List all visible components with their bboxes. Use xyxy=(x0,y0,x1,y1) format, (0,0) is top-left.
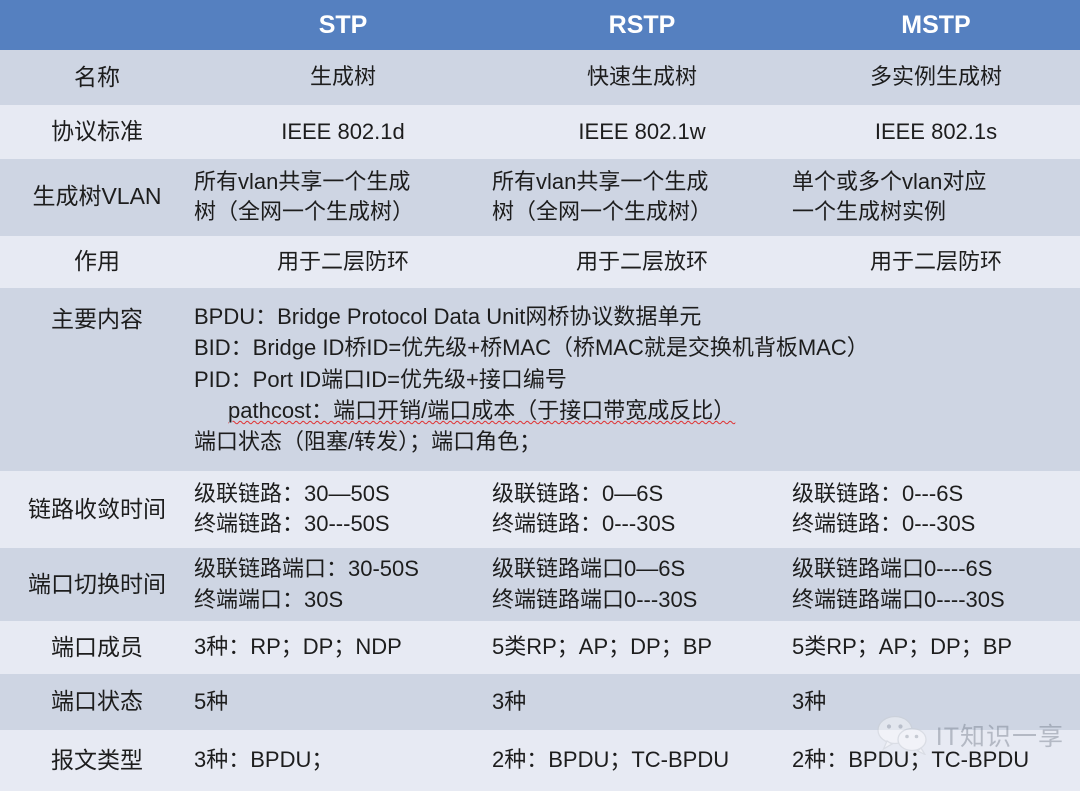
cell-line: 级联链路端口0----6S xyxy=(792,554,1080,584)
row-label-port-members: 端口成员 xyxy=(0,621,194,674)
header-cell-blank xyxy=(0,0,194,50)
main-content-line-pid: PID：Port ID端口ID=优先级+接口编号 xyxy=(194,364,1080,395)
main-content-line-portstate: 端口状态（阻塞/转发）；端口角色； xyxy=(194,426,1080,457)
cell-port-states-rstp: 3种 xyxy=(492,674,792,730)
header-cell-stp: STP xyxy=(194,0,492,50)
row-label-function: 作用 xyxy=(0,236,194,288)
cell-line: 终端端口：30S xyxy=(194,585,492,615)
cell-line: 树（全网一个生成树） xyxy=(492,197,792,227)
cell-port-switch-stp: 级联链路端口：30-50S 终端端口：30S xyxy=(194,548,492,621)
cell-vlan-stp: 所有vlan共享一个生成 树（全网一个生成树） xyxy=(194,159,492,236)
table-row: 作用 用于二层防环 用于二层放环 用于二层防环 xyxy=(0,236,1080,288)
row-label-main-content: 主要内容 xyxy=(0,288,194,471)
row-label-standard: 协议标准 xyxy=(0,105,194,159)
cell-line: 单个或多个vlan对应 xyxy=(792,167,1080,197)
cell-port-switch-mstp: 级联链路端口0----6S 终端链路端口0----30S xyxy=(792,548,1080,621)
cell-line: 树（全网一个生成树） xyxy=(194,197,492,227)
table-row: 链路收敛时间 级联链路：30—50S 终端链路：30---50S 级联链路：0—… xyxy=(0,471,1080,548)
cell-function-mstp: 用于二层防环 xyxy=(792,236,1080,288)
table-row: 端口成员 3种：RP；DP；NDP 5类RP；AP；DP；BP 5类RP；AP；… xyxy=(0,621,1080,674)
cell-convergence-mstp: 级联链路：0---6S 终端链路：0---30S xyxy=(792,471,1080,548)
header-cell-mstp: MSTP xyxy=(792,0,1080,50)
row-label-port-states: 端口状态 xyxy=(0,674,194,730)
cell-message-type-mstp: 2种：BPDU；TC-BPDU xyxy=(792,730,1080,791)
comparison-table: STP RSTP MSTP 名称 生成树 快速生成树 多实例生成树 协议标准 I… xyxy=(0,0,1080,791)
cell-line: 所有vlan共享一个生成 xyxy=(194,167,492,197)
cell-name-stp: 生成树 xyxy=(194,50,492,105)
cell-line: 级联链路：0—6S xyxy=(492,479,792,509)
cell-line: 级联链路端口0—6S xyxy=(492,554,792,584)
cell-function-stp: 用于二层防环 xyxy=(194,236,492,288)
main-content-line-pathcost: pathcost：端口开销/端口成本（于接口带宽成反比） xyxy=(194,395,1080,426)
table-row-main-content: 主要内容 BPDU：Bridge Protocol Data Unit网桥协议数… xyxy=(0,288,1080,471)
main-content-pathcost-text: pathcost：端口开销/端口成本（于接口带宽成反比） xyxy=(228,398,735,423)
cell-line: 所有vlan共享一个生成 xyxy=(492,167,792,197)
cell-line: 终端链路端口0---30S xyxy=(492,585,792,615)
main-content-line-bid: BID：Bridge ID桥ID=优先级+桥MAC（桥MAC就是交换机背板MAC… xyxy=(194,332,1080,363)
table-row: 报文类型 3种：BPDU； 2种：BPDU；TC-BPDU 2种：BPDU；TC… xyxy=(0,730,1080,791)
cell-function-rstp: 用于二层放环 xyxy=(492,236,792,288)
cell-line: 终端链路端口0----30S xyxy=(792,585,1080,615)
cell-port-members-rstp: 5类RP；AP；DP；BP xyxy=(492,621,792,674)
cell-vlan-mstp: 单个或多个vlan对应 一个生成树实例 xyxy=(792,159,1080,236)
cell-convergence-stp: 级联链路：30—50S 终端链路：30---50S xyxy=(194,471,492,548)
table-row: 协议标准 IEEE 802.1d IEEE 802.1w IEEE 802.1s xyxy=(0,105,1080,159)
cell-port-switch-rstp: 级联链路端口0—6S 终端链路端口0---30S xyxy=(492,548,792,621)
cell-main-content: BPDU：Bridge Protocol Data Unit网桥协议数据单元 B… xyxy=(194,288,1080,471)
cell-line: 级联链路：30—50S xyxy=(194,479,492,509)
row-label-vlan: 生成树VLAN xyxy=(0,159,194,236)
cell-line: 级联链路：0---6S xyxy=(792,479,1080,509)
table-row: 端口切换时间 级联链路端口：30-50S 终端端口：30S 级联链路端口0—6S… xyxy=(0,548,1080,621)
main-content-line-bpdu: BPDU：Bridge Protocol Data Unit网桥协议数据单元 xyxy=(194,301,1080,332)
cell-vlan-rstp: 所有vlan共享一个生成 树（全网一个生成树） xyxy=(492,159,792,236)
cell-line: 终端链路：0---30S xyxy=(792,509,1080,539)
header-row: STP RSTP MSTP xyxy=(0,0,1080,50)
cell-standard-rstp: IEEE 802.1w xyxy=(492,105,792,159)
cell-port-states-mstp: 3种 xyxy=(792,674,1080,730)
row-label-message-type: 报文类型 xyxy=(0,730,194,791)
cell-port-members-mstp: 5类RP；AP；DP；BP xyxy=(792,621,1080,674)
cell-message-type-rstp: 2种：BPDU；TC-BPDU xyxy=(492,730,792,791)
row-label-port-switch-time: 端口切换时间 xyxy=(0,548,194,621)
cell-name-rstp: 快速生成树 xyxy=(492,50,792,105)
table-row: 端口状态 5种 3种 3种 xyxy=(0,674,1080,730)
cell-standard-mstp: IEEE 802.1s xyxy=(792,105,1080,159)
table-header: STP RSTP MSTP xyxy=(0,0,1080,50)
cell-line: 级联链路端口：30-50S xyxy=(194,554,492,584)
cell-line: 一个生成树实例 xyxy=(792,197,1080,227)
cell-port-states-stp: 5种 xyxy=(194,674,492,730)
cell-name-mstp: 多实例生成树 xyxy=(792,50,1080,105)
table-row: 生成树VLAN 所有vlan共享一个生成 树（全网一个生成树） 所有vlan共享… xyxy=(0,159,1080,236)
table-row: 名称 生成树 快速生成树 多实例生成树 xyxy=(0,50,1080,105)
cell-message-type-stp: 3种：BPDU； xyxy=(194,730,492,791)
cell-line: 终端链路：30---50S xyxy=(194,509,492,539)
cell-line: 终端链路：0---30S xyxy=(492,509,792,539)
row-label-name: 名称 xyxy=(0,50,194,105)
table-body: 名称 生成树 快速生成树 多实例生成树 协议标准 IEEE 802.1d IEE… xyxy=(0,50,1080,791)
header-cell-rstp: RSTP xyxy=(492,0,792,50)
cell-convergence-rstp: 级联链路：0—6S 终端链路：0---30S xyxy=(492,471,792,548)
cell-standard-stp: IEEE 802.1d xyxy=(194,105,492,159)
cell-port-members-stp: 3种：RP；DP；NDP xyxy=(194,621,492,674)
row-label-convergence-time: 链路收敛时间 xyxy=(0,471,194,548)
